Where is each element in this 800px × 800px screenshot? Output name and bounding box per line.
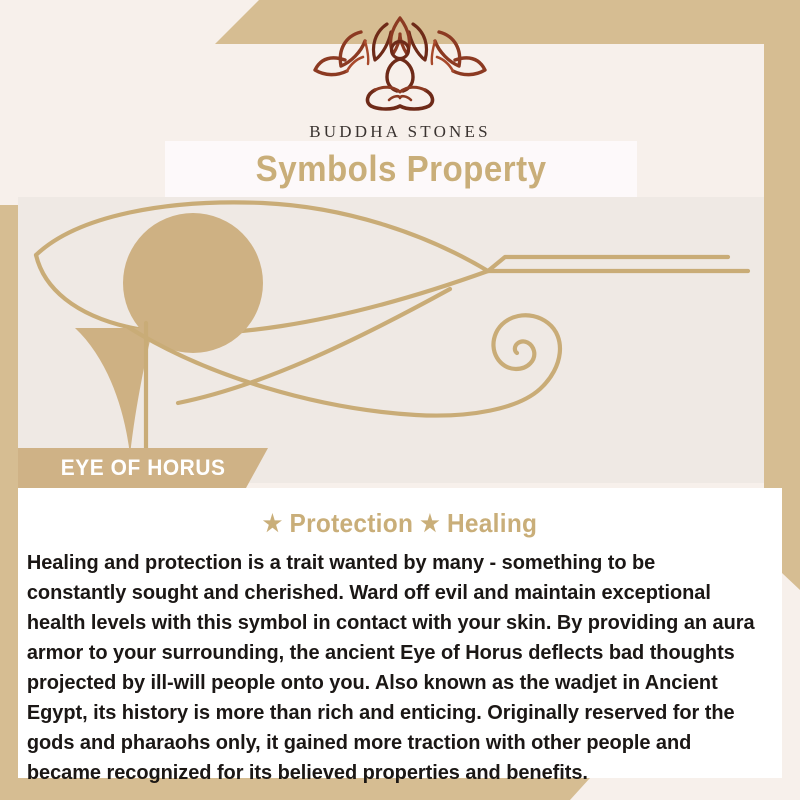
property-protection: Protection [289, 508, 413, 538]
page-title-band: Symbols Property [165, 141, 637, 197]
decorative-left-strip [0, 205, 18, 785]
brand-wordmark: BUDDHA STONES [0, 122, 800, 142]
badge-label: EYE OF HORUS [18, 455, 226, 481]
eye-teardrop [75, 328, 153, 455]
property-healing: Healing [447, 508, 537, 538]
star-icon-left: ★ [263, 510, 283, 536]
brand-logo-block: BUDDHA STONES [0, 14, 800, 142]
lotus-meditation-figure-icon [305, 14, 495, 118]
properties-subheading: ★ Protection ★ Healing [41, 488, 759, 539]
description-paragraph: Healing and protection is a trait wanted… [18, 539, 771, 788]
page-title: Symbols Property [256, 148, 547, 190]
status-badge: EYE OF HORUS [18, 448, 268, 488]
content-panel: ★ Protection ★ Healing Healing and prote… [18, 488, 782, 778]
eye-of-horus-illustration [18, 197, 764, 483]
star-icon-right: ★ [420, 510, 440, 536]
illustration-panel [18, 197, 764, 483]
poster-root: BUDDHA STONES Symbols Property [0, 0, 800, 800]
